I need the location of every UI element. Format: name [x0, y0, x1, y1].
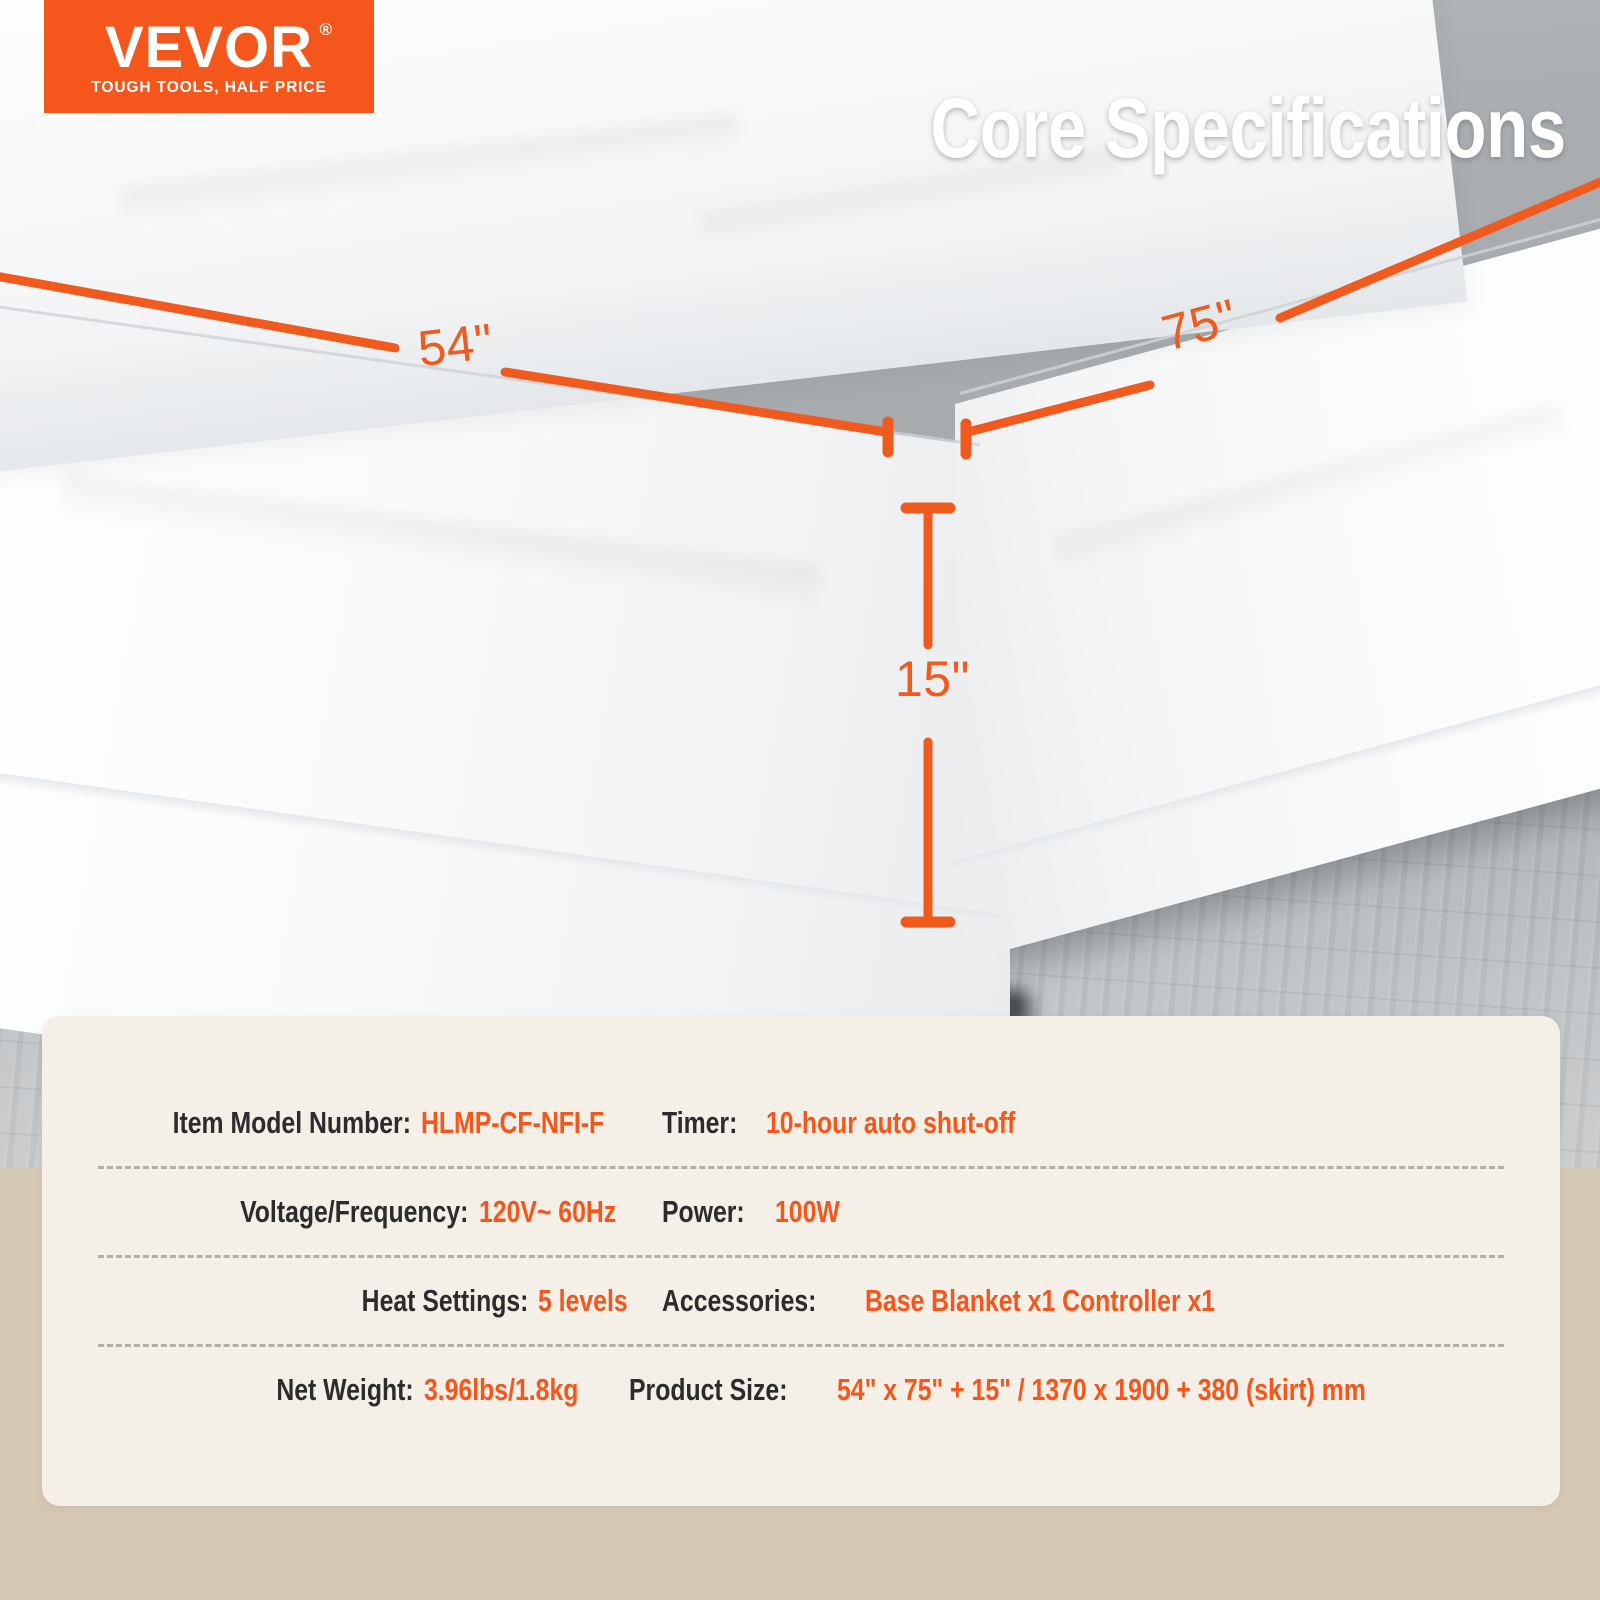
spec-key: Net Weight: [276, 1372, 413, 1408]
dimension-line-75-left [968, 385, 1150, 432]
spec-key: Voltage/Frequency: [240, 1194, 468, 1230]
spec-value: 3.96lbs/1.8kg [424, 1372, 578, 1408]
logo-wordmark: VEVOR® [105, 20, 313, 76]
row-divider [98, 1255, 1504, 1258]
spec-value: HLMP-CF-NFI-F [421, 1105, 604, 1141]
page-title: Core Specifications [931, 86, 1566, 170]
dimension-label-depth: 15" [895, 650, 970, 708]
spec-value: Base Blanket x1 Controller x1 [865, 1283, 1215, 1319]
spec-key: Product Size: [629, 1372, 787, 1408]
dimension-line-54-right [505, 372, 886, 432]
dimension-lines [0, 0, 1600, 1180]
spec-accessories: Accessories: Base Blanket x1 Controller … [662, 1283, 1498, 1319]
specifications-table: Item Model Number: HLMP-CF-NFI-F Timer: … [42, 1080, 1560, 1433]
logo-tagline: TOUGH TOOLS, HALF PRICE [91, 79, 326, 97]
spec-value: 100W [775, 1194, 840, 1230]
dimension-line-54-left [0, 275, 395, 348]
infographic-stage: 54" 75" 15" VEVOR® TOUGH TOOLS, HALF PRI… [0, 0, 1600, 1600]
spec-key: Timer: [662, 1105, 737, 1141]
spec-product-size: Product Size: 54" x 75" + 15" / 1370 x 1… [629, 1372, 1498, 1408]
spec-row: Net Weight: 3.96lbs/1.8kg Product Size: … [42, 1347, 1560, 1433]
vevor-logo: VEVOR® TOUGH TOOLS, HALF PRICE [44, 0, 374, 113]
row-divider [98, 1166, 1504, 1169]
spec-row: Item Model Number: HLMP-CF-NFI-F Timer: … [42, 1080, 1560, 1166]
spec-key: Power: [662, 1194, 745, 1230]
spec-item-model-number: Item Model Number: HLMP-CF-NFI-F [102, 1105, 662, 1141]
registered-trademark-icon: ® [320, 22, 334, 38]
spec-value: 10-hour auto shut-off [766, 1105, 1015, 1141]
row-divider [98, 1344, 1504, 1347]
spec-net-weight: Net Weight: 3.96lbs/1.8kg [102, 1372, 629, 1408]
spec-value: 5 levels [538, 1283, 628, 1319]
spec-key: Accessories: [662, 1283, 816, 1319]
spec-key: Item Model Number: [173, 1105, 411, 1141]
product-photo-scene: 54" 75" 15" VEVOR® TOUGH TOOLS, HALF PRI… [0, 0, 1600, 1180]
spec-heat-settings: Heat Settings: 5 levels [102, 1283, 662, 1319]
dimension-label-width: 54" [415, 312, 496, 378]
spec-row: Heat Settings: 5 levels Accessories: Bas… [42, 1258, 1560, 1344]
specifications-card: Item Model Number: HLMP-CF-NFI-F Timer: … [42, 1016, 1560, 1506]
spec-voltage-frequency: Voltage/Frequency: 120V~ 60Hz [102, 1194, 662, 1230]
spec-key: Heat Settings: [361, 1283, 528, 1319]
dimension-line-75-right [1280, 178, 1600, 318]
spec-row: Voltage/Frequency: 120V~ 60Hz Power: 100… [42, 1169, 1560, 1255]
spec-value: 120V~ 60Hz [479, 1194, 616, 1230]
spec-value: 54" x 75" + 15" / 1370 x 1900 + 380 (ski… [837, 1372, 1366, 1408]
spec-power: Power: 100W [662, 1194, 1498, 1230]
spec-timer: Timer: 10-hour auto shut-off [662, 1105, 1498, 1141]
